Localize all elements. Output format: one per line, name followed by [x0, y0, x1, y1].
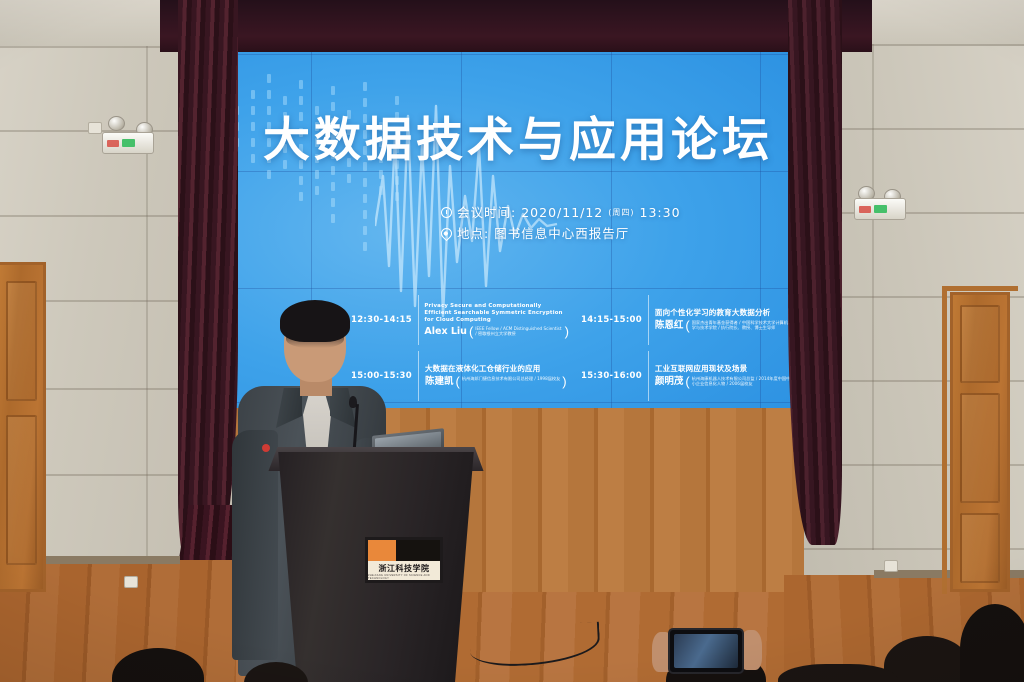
meeting-time-value: 2020/11/12	[521, 202, 603, 223]
emergency-light-body	[102, 132, 154, 154]
session-affiliation: 杭州海邦门捷信息技术有限公司总经理 / 1998届校友	[462, 376, 560, 382]
lapel-pin-icon	[262, 444, 270, 452]
emergency-light-body	[854, 198, 906, 220]
location-pin-icon	[439, 226, 455, 242]
meeting-weekday: (周四)	[608, 202, 634, 223]
warning-sticker-icon	[107, 140, 119, 147]
paren-open: (	[469, 326, 473, 338]
door-panel	[960, 393, 1000, 503]
door-left[interactable]	[0, 262, 46, 592]
session-time: 14:15-15:00	[581, 315, 642, 325]
phone-screen	[674, 634, 738, 668]
status-led-icon	[874, 205, 887, 213]
presenter-hair	[280, 300, 350, 342]
clock-icon	[441, 207, 452, 218]
stage-valance	[160, 0, 872, 52]
session-divider	[648, 351, 649, 401]
stage-curtain-left	[178, 0, 238, 560]
session-time: 15:00-15:30	[351, 371, 412, 381]
door-panel	[6, 281, 37, 401]
session-divider	[418, 351, 419, 401]
session-affiliation: IEEE Fellow / ACM Distinguished Scientis…	[475, 326, 562, 337]
meeting-clock: 13:30	[640, 202, 681, 223]
paren-open: (	[685, 376, 689, 388]
session-time: 12:30-14:15	[351, 315, 412, 325]
session-speaker: 颜明茂	[655, 376, 684, 388]
audience-phone[interactable]	[668, 628, 744, 674]
status-led-icon	[122, 139, 135, 147]
wall-outlet-left	[88, 122, 102, 134]
sign-dark-block	[396, 540, 440, 561]
meeting-time-label: 会议时间:	[457, 202, 516, 223]
paren-close: )	[562, 376, 566, 388]
paren-open: (	[455, 376, 459, 388]
sign-university-name-en: ZHEJIANG UNIVERSITY OF SCIENCE AND TECHN…	[368, 574, 440, 580]
forum-title: 大数据技术与应用论坛	[233, 101, 803, 170]
session-cell: 15:30-16:00 工业互联网应用现状及场景 颜明茂 ( 杭州海康机器人技术…	[575, 348, 803, 404]
meeting-place-label: 地点:	[457, 223, 489, 244]
door-panel	[960, 305, 1000, 383]
forum-meta: 会议时间: 2020/11/12 (周四) 13:30 地点: 图书信息中心西报…	[441, 202, 681, 244]
screen-panel-seam	[233, 54, 803, 55]
audience-shoulder	[778, 664, 898, 682]
session-topic: 大数据在液体化工仓储行业的应用	[425, 364, 567, 373]
door-right[interactable]	[950, 292, 1010, 592]
session-cell: 12:30-14:15 Privacy Secure and Computati…	[345, 292, 575, 348]
session-speaker: 陈建凯	[425, 376, 454, 388]
wall-seam	[872, 44, 874, 550]
session-affiliation: 国家杰出青年基金获得者 / 中国科学技术大学计算机科学与技术学院 / 执行院长、…	[692, 320, 793, 331]
session-topic: Privacy Secure and Computationally Effic…	[424, 303, 569, 324]
meeting-place-row: 地点: 图书信息中心西报告厅	[441, 223, 681, 244]
sign-logo-block	[368, 540, 440, 561]
sign-university-name-cn: 浙江科技学院	[379, 563, 430, 574]
paren-open: (	[685, 320, 689, 332]
session-divider	[648, 295, 649, 345]
session-affiliation: 杭州海康机器人技术有限公司总监 / 2014年度中国中小企业信息化人物 / 20…	[692, 376, 793, 387]
wall-outlet-right	[884, 560, 898, 572]
stage-curtain-right	[788, 0, 842, 545]
session-speaker: Alex Liu	[424, 326, 467, 338]
meeting-place-value: 图书信息中心西报告厅	[494, 223, 629, 244]
paren-close: )	[565, 326, 569, 338]
door-panel	[6, 415, 37, 565]
sign-orange-block	[368, 540, 396, 561]
emergency-lamp-icon	[108, 116, 125, 131]
wall-outlet-lower-left	[124, 576, 138, 588]
conference-hall-photo: ZUST 1980-2020 TEE 信息与电子工程学院 大数据技术与应用论坛 …	[0, 0, 1024, 682]
meeting-time-row: 会议时间: 2020/11/12 (周四) 13:30	[441, 202, 681, 223]
session-time: 15:30-16:00	[581, 371, 642, 381]
session-topic: 工业互联网应用现状及场景	[655, 364, 799, 373]
podium-university-sign: 浙江科技学院 ZHEJIANG UNIVERSITY OF SCIENCE AN…	[365, 537, 443, 583]
warning-sticker-icon	[859, 206, 871, 213]
session-cell: 14:15-15:00 面向个性化学习的教育大数据分析 陈恩红 ( 国家杰出青年…	[575, 292, 803, 348]
session-schedule-grid: 12:30-14:15 Privacy Secure and Computati…	[345, 292, 803, 404]
session-topic: 面向个性化学习的教育大数据分析	[655, 308, 799, 317]
session-speaker: 陈恩红	[655, 320, 684, 332]
door-panel	[960, 513, 1000, 583]
